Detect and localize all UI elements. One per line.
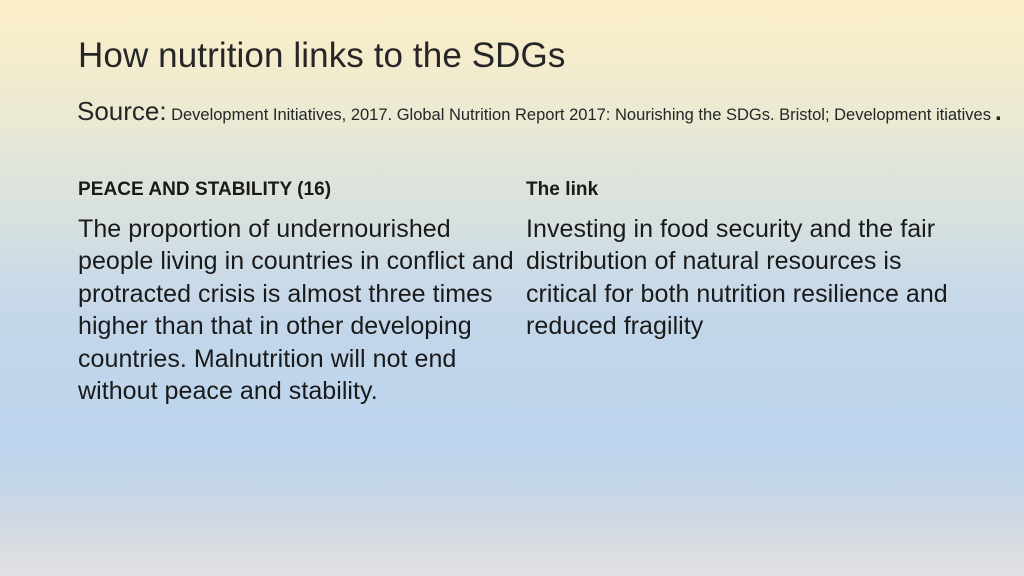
column-heading-peace-and-stability: PEACE AND STABILITY (16) [78,178,514,202]
column-body-peace-and-stability: The proportion of undernourished people … [78,213,514,408]
source-label: Source: [77,96,167,126]
content-column-left: PEACE AND STABILITY (16) The proportion … [78,178,514,408]
slide-title: How nutrition links to the SDGs [78,36,958,76]
slide-canvas: How nutrition links to the SDGs Source: … [0,0,1024,576]
source-trailing-period: . [991,99,1002,126]
column-heading-the-link: The link [526,178,956,202]
column-body-the-link: Investing in food security and the fair … [526,213,956,343]
content-column-right: The link Investing in food security and … [526,178,956,343]
slide-source-line: Source: Development Initiatives, 2017. G… [77,96,977,128]
source-citation-text: Development Initiatives, 2017. Global Nu… [171,106,991,124]
